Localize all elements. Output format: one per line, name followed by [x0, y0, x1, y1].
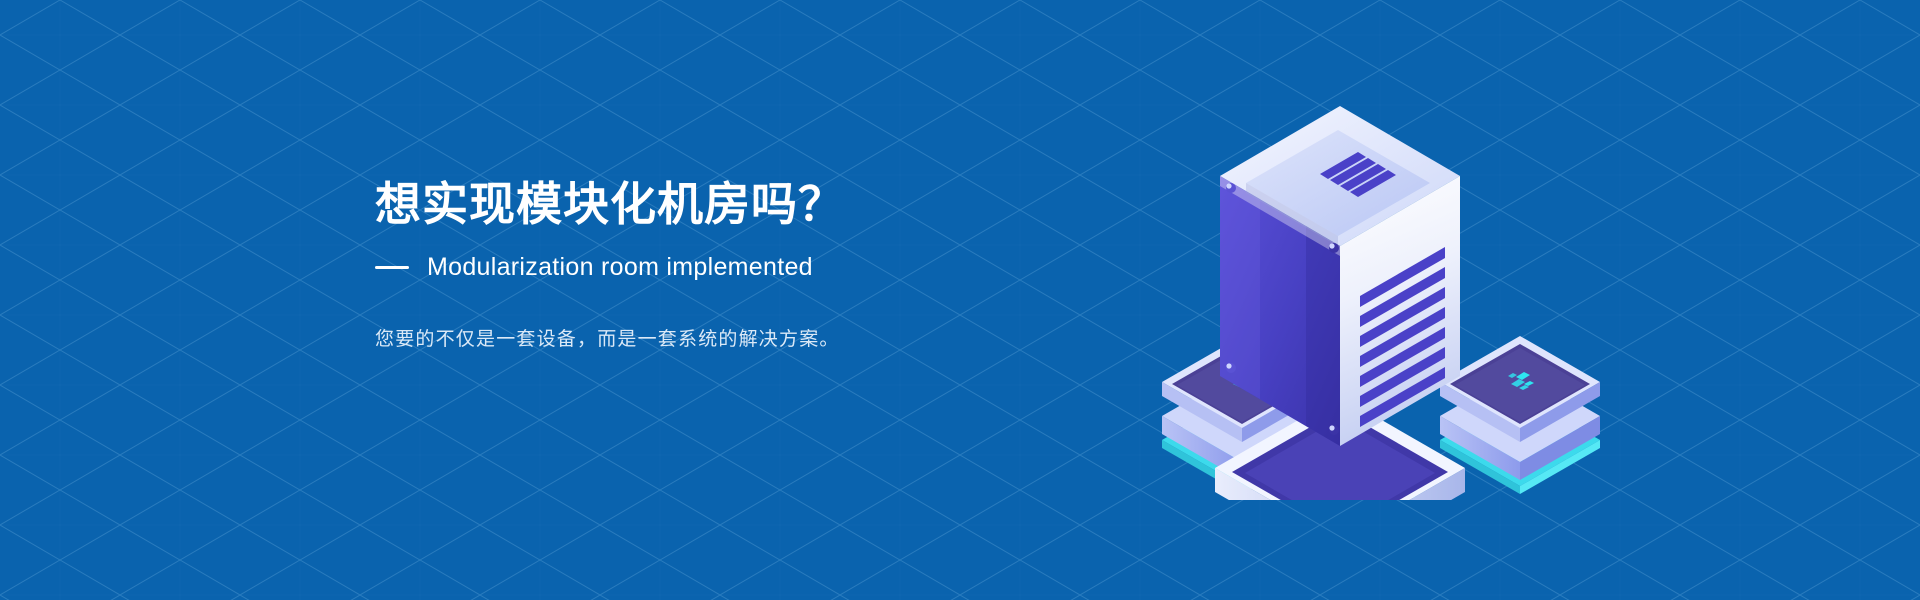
- hero-description: 您要的不仅是一套设备，而是一套系统的解决方案。: [375, 324, 1055, 351]
- isometric-datacenter-illustration: [1020, 100, 1660, 500]
- hero-subtitle: Modularization room implemented: [427, 253, 813, 282]
- subtitle-row: Modularization room implemented: [375, 253, 1055, 282]
- dash-marker-icon: [375, 266, 409, 269]
- hero-banner: 想实现模块化机房吗？ Modularization room implement…: [0, 0, 1920, 600]
- page-title: 想实现模块化机房吗？: [375, 178, 1055, 231]
- server-rack-tower: [1220, 106, 1460, 446]
- hero-text-block: 想实现模块化机房吗？ Modularization room implement…: [375, 178, 1055, 351]
